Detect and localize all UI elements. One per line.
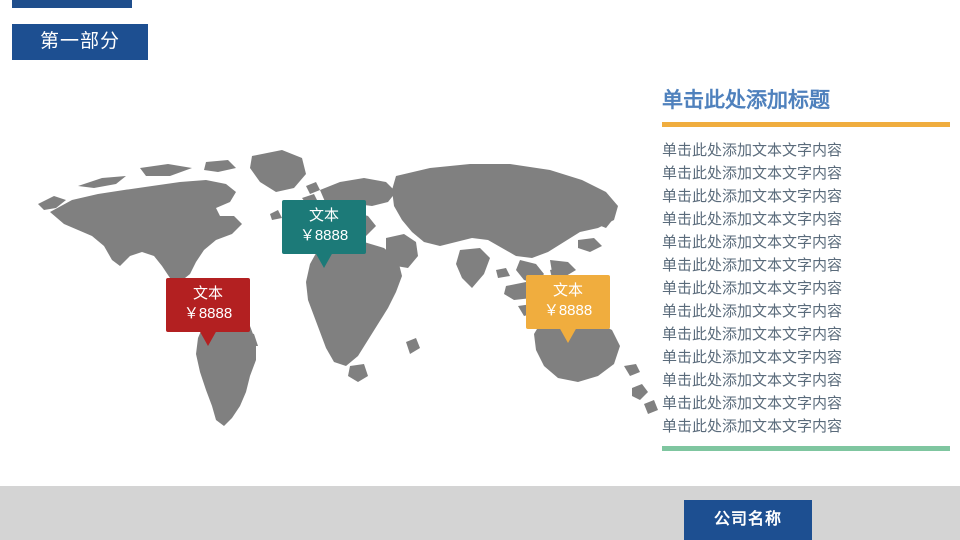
map-marker-orange[interactable]: 文本 ￥8888	[526, 275, 610, 329]
content-line: 单击此处添加文本文字内容	[662, 323, 950, 346]
map-marker-red-value: ￥8888	[166, 304, 250, 324]
content-line: 单击此处添加文本文字内容	[662, 254, 950, 277]
content-line: 单击此处添加文本文字内容	[662, 139, 950, 162]
content-line: 单击此处添加文本文字内容	[662, 162, 950, 185]
content-title: 单击此处添加标题	[662, 86, 950, 116]
map-marker-orange-pointer-icon	[559, 327, 577, 343]
map-marker-red[interactable]: 文本 ￥8888	[166, 278, 250, 332]
map-marker-red-label: 文本	[166, 284, 250, 304]
map-marker-orange-label: 文本	[526, 281, 610, 301]
map-marker-teal-value: ￥8888	[282, 226, 366, 246]
map-marker-teal[interactable]: 文本 ￥8888	[282, 200, 366, 254]
footer-company-name: 公司名称	[684, 500, 812, 540]
content-line: 单击此处添加文本文字内容	[662, 300, 950, 323]
map-marker-orange-value: ￥8888	[526, 301, 610, 321]
map-marker-red-pointer-icon	[199, 330, 217, 346]
content-line: 单击此处添加文本文字内容	[662, 231, 950, 254]
content-line: 单击此处添加文本文字内容	[662, 277, 950, 300]
section-tag: 第一部分	[12, 24, 148, 60]
content-line: 单击此处添加文本文字内容	[662, 346, 950, 369]
content-rule-bottom	[662, 446, 950, 451]
footer-band	[0, 486, 960, 540]
content-rule-top	[662, 122, 950, 127]
content-line: 单击此处添加文本文字内容	[662, 185, 950, 208]
slide-canvas: 第一部分	[0, 0, 960, 540]
content-body: 单击此处添加文本文字内容 单击此处添加文本文字内容 单击此处添加文本文字内容 单…	[662, 139, 950, 438]
content-line: 单击此处添加文本文字内容	[662, 369, 950, 392]
section-tag-accent-bar	[12, 0, 132, 8]
content-line: 单击此处添加文本文字内容	[662, 415, 950, 438]
map-marker-teal-pointer-icon	[315, 252, 333, 268]
content-line: 单击此处添加文本文字内容	[662, 392, 950, 415]
map-marker-teal-label: 文本	[282, 206, 366, 226]
content-line: 单击此处添加文本文字内容	[662, 208, 950, 231]
content-panel: 单击此处添加标题 单击此处添加文本文字内容 单击此处添加文本文字内容 单击此处添…	[662, 86, 950, 451]
